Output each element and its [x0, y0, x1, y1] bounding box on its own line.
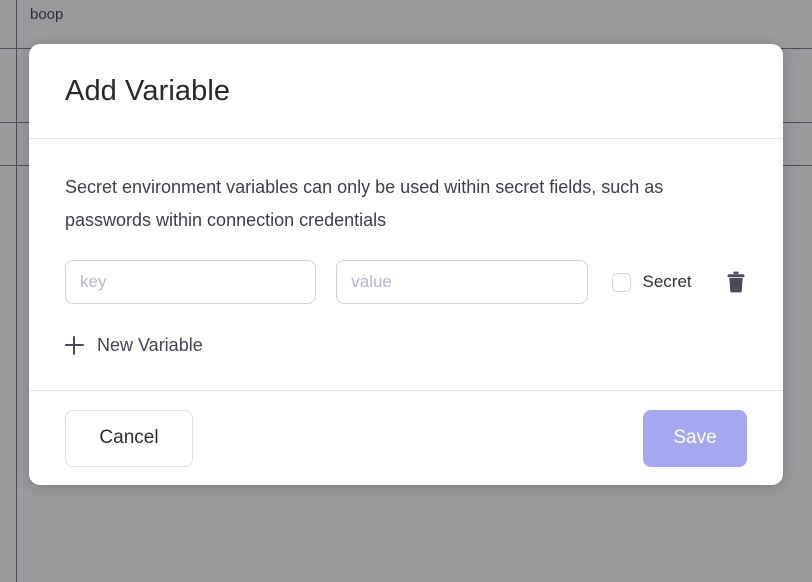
secret-toggle-group: Secret	[612, 272, 692, 292]
trash-icon[interactable]	[726, 270, 747, 294]
add-variable-dialog: Add Variable Secret environment variable…	[29, 44, 783, 485]
variable-key-input[interactable]	[65, 260, 316, 304]
new-variable-label: New Variable	[97, 335, 203, 356]
new-variable-button[interactable]: New Variable	[65, 335, 203, 356]
dialog-title: Add Variable	[65, 75, 230, 108]
dialog-body: Secret environment variables can only be…	[29, 139, 783, 391]
secret-checkbox[interactable]	[612, 273, 631, 292]
save-button[interactable]: Save	[643, 410, 747, 467]
dialog-footer: Cancel Save	[29, 391, 783, 485]
plus-icon	[65, 336, 84, 355]
cancel-button[interactable]: Cancel	[65, 410, 193, 467]
dialog-description: Secret environment variables can only be…	[65, 171, 745, 237]
variable-row: Secret	[65, 260, 747, 304]
dialog-header: Add Variable	[29, 44, 783, 139]
secret-label: Secret	[643, 272, 692, 292]
variable-value-input[interactable]	[336, 260, 587, 304]
screen: boop Add Variable Secret environment var…	[0, 0, 812, 582]
